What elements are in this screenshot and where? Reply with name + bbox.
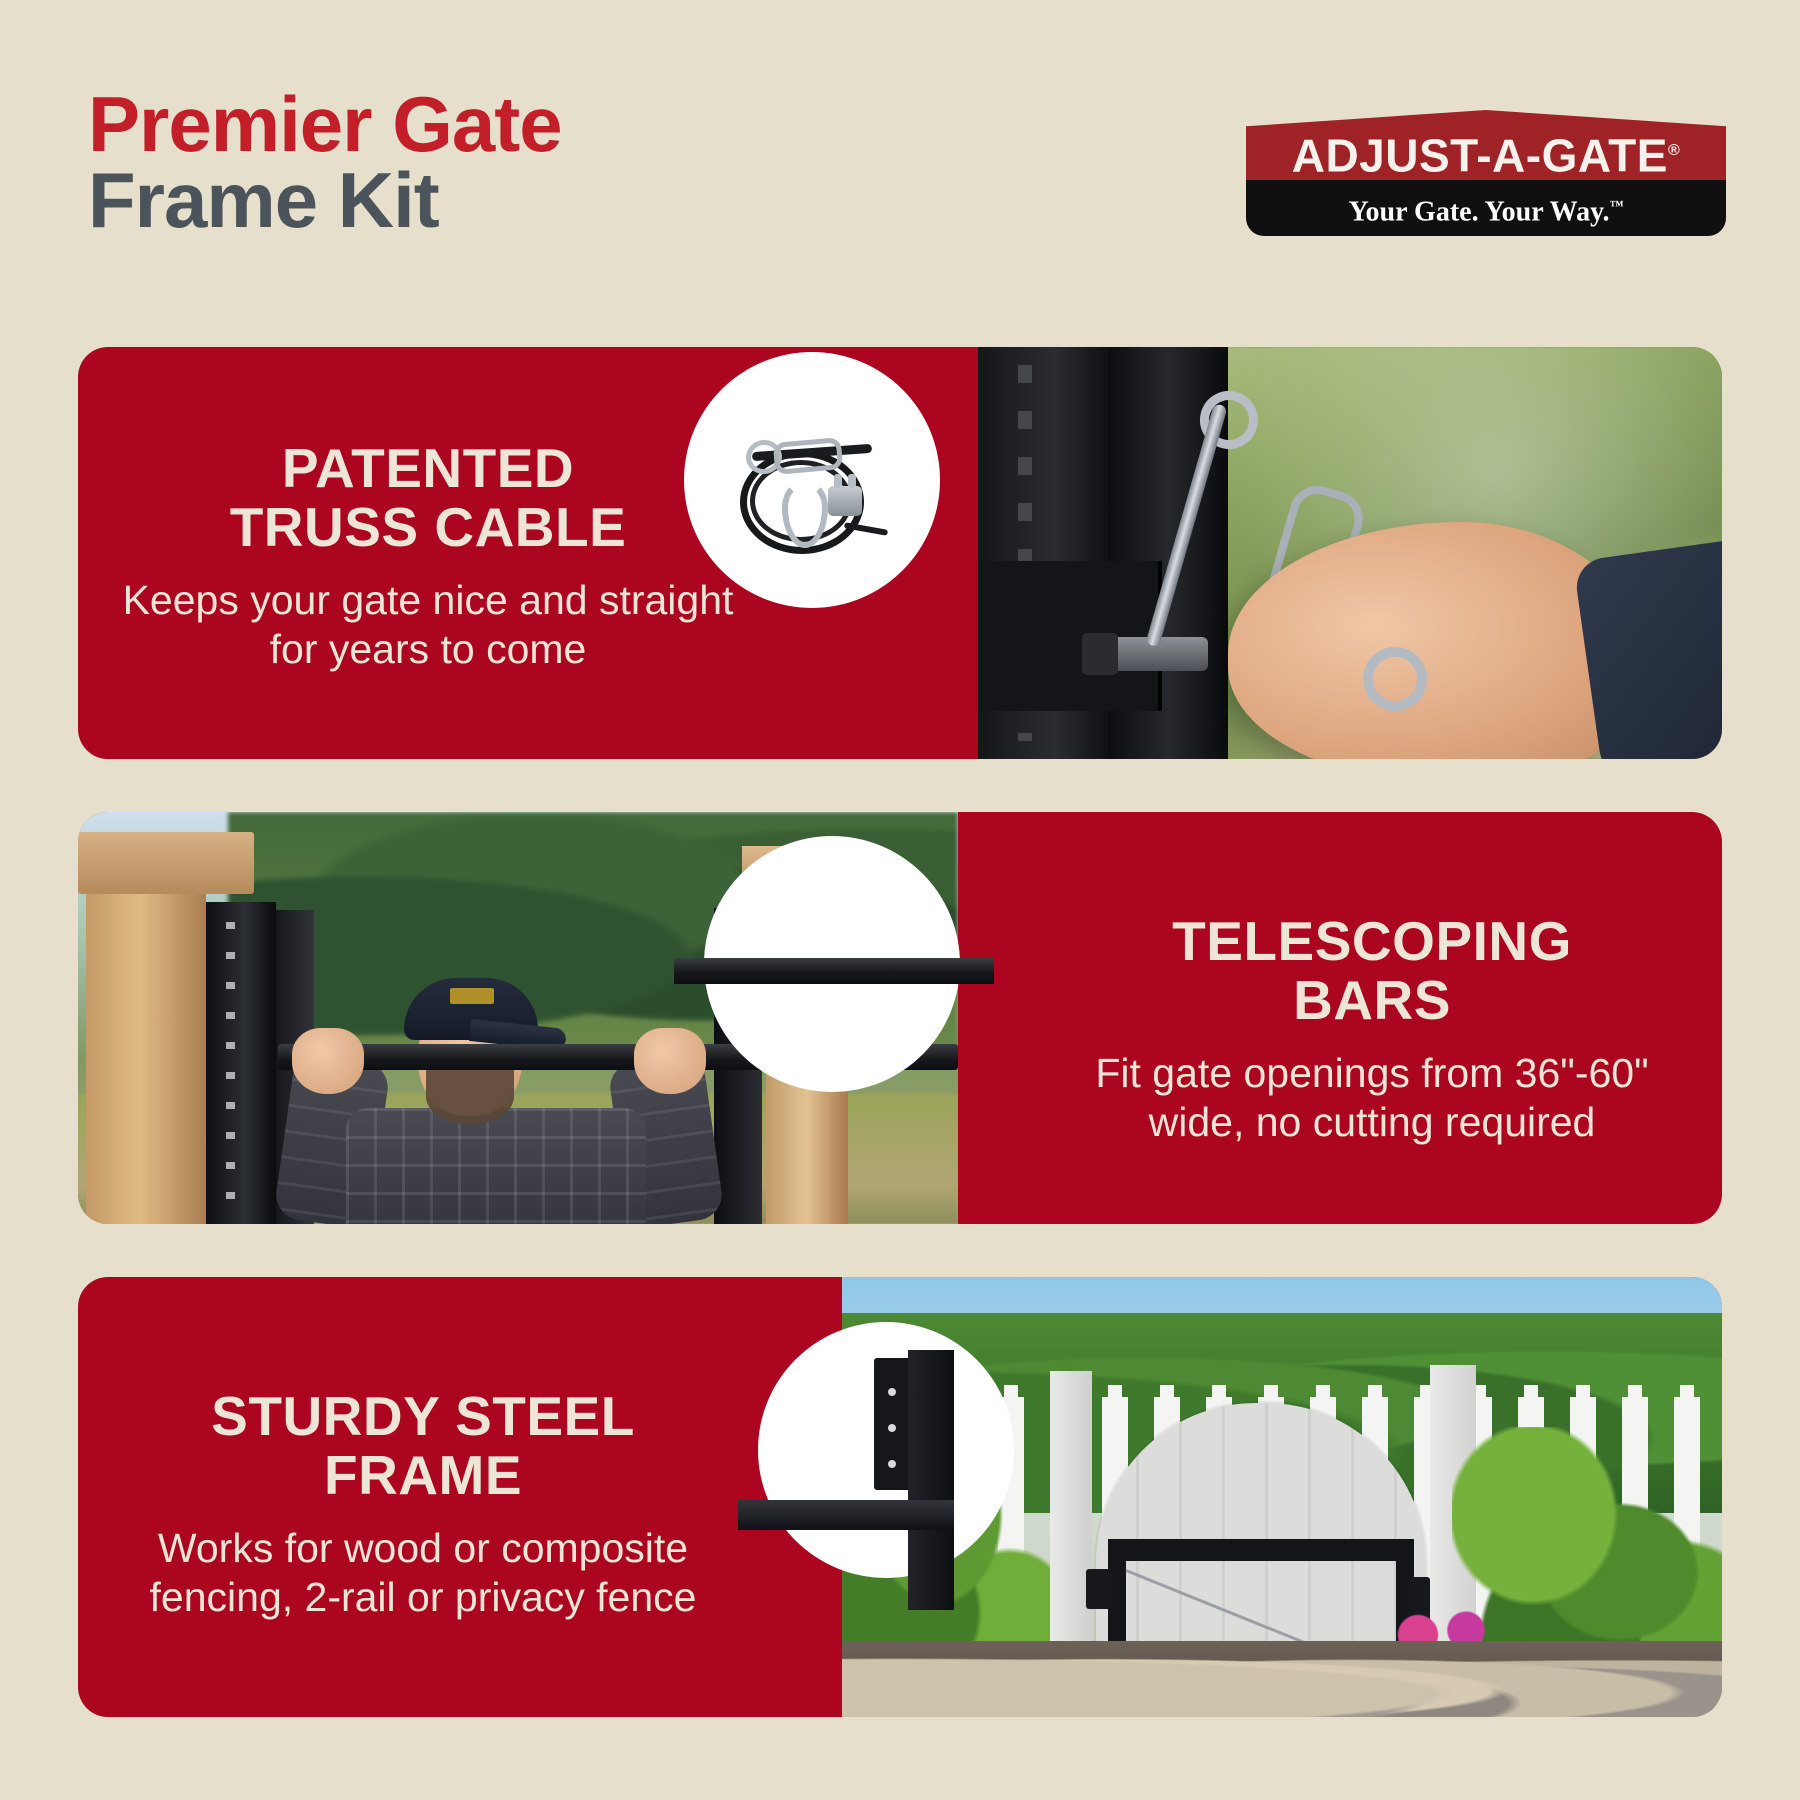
feature-heading-2: TELESCOPING BARS: [1062, 912, 1682, 1031]
steel-upright-holes: [226, 922, 235, 1212]
feature-heading-2-line1: TELESCOPING: [1172, 910, 1572, 972]
feature-heading-2-line2: BARS: [1293, 969, 1451, 1031]
feature-text-block-2: TELESCOPING BARS Fit gate openings from …: [1062, 912, 1682, 1147]
trademark-icon: ™: [1610, 199, 1624, 214]
logo-brand-name: ADJUST-A-GATE®: [1246, 122, 1726, 184]
feature-inset-circle-steel-frame: [758, 1322, 1014, 1578]
gate-hinge-upper: [1086, 1569, 1112, 1609]
feature-heading-3: STURDY STEEL FRAME: [108, 1387, 738, 1506]
cap-logo-icon: [450, 988, 494, 1004]
feature-heading-3-line2: FRAME: [324, 1444, 522, 1506]
feature-photo-truss-cable: [978, 347, 1722, 759]
logo-tagline-text: Your Gate. Your Way.: [1348, 196, 1609, 227]
truss-cable-illustration: [732, 434, 892, 546]
feature-inset-circle-truss-cable: [684, 352, 940, 608]
steel-frame-top-rail: [1108, 1539, 1414, 1561]
registered-trademark-icon: ®: [1668, 142, 1680, 159]
feature-inset-circle-telescoping-bar: [704, 836, 960, 1092]
feature-text-block-1: PATENTED TRUSS CABLE Keeps your gate nic…: [118, 439, 738, 674]
bolt-head: [1082, 633, 1118, 675]
person-hand-left: [292, 1028, 364, 1094]
infographic-page: Premier Gate Frame Kit ADJUST-A-GATE® Yo…: [0, 0, 1800, 1800]
shirt-sleeve: [1573, 534, 1722, 759]
wood-post-left: [86, 838, 206, 1224]
brand-logo: ADJUST-A-GATE® Your Gate. Your Way.™: [1236, 100, 1736, 240]
frame-bracket: [978, 561, 1162, 711]
plate-hole-3: [888, 1460, 896, 1468]
steel-upright-left: [206, 902, 276, 1224]
feature-heading-1-line1: PATENTED: [282, 437, 574, 499]
person-plaid-shirt: [346, 1108, 646, 1224]
person-beard: [426, 1062, 514, 1124]
logo-tagline: Your Gate. Your Way.™: [1246, 184, 1726, 235]
steel-frame-horizontal: [738, 1500, 954, 1530]
plate-hole-2: [888, 1424, 896, 1432]
feature-heading-3-line1: STURDY STEEL: [211, 1385, 635, 1447]
plate-hole-1: [888, 1388, 896, 1396]
landscape-rocks: [842, 1641, 1722, 1717]
feature-heading-1: PATENTED TRUSS CABLE: [118, 439, 738, 558]
feature-body-1: Keeps your gate nice and straight for ye…: [118, 576, 738, 674]
feature-body-2: Fit gate openings from 36"-60" wide, no …: [1062, 1049, 1682, 1147]
cable-clamp: [828, 486, 862, 516]
steel-frame-vertical: [908, 1350, 954, 1610]
feature-text-block-3: STURDY STEEL FRAME Works for wood or com…: [108, 1387, 738, 1622]
feature-body-3: Works for wood or composite fencing, 2-r…: [108, 1524, 738, 1622]
logo-brand-text: ADJUST-A-GATE: [1292, 129, 1668, 181]
wood-post-cap-left: [78, 832, 254, 894]
telescoping-bar-closeup: [674, 958, 994, 984]
feature-heading-1-line2: TRUSS CABLE: [230, 496, 627, 558]
cable-turnbuckle: [773, 437, 844, 475]
person-hand-right: [634, 1028, 706, 1094]
